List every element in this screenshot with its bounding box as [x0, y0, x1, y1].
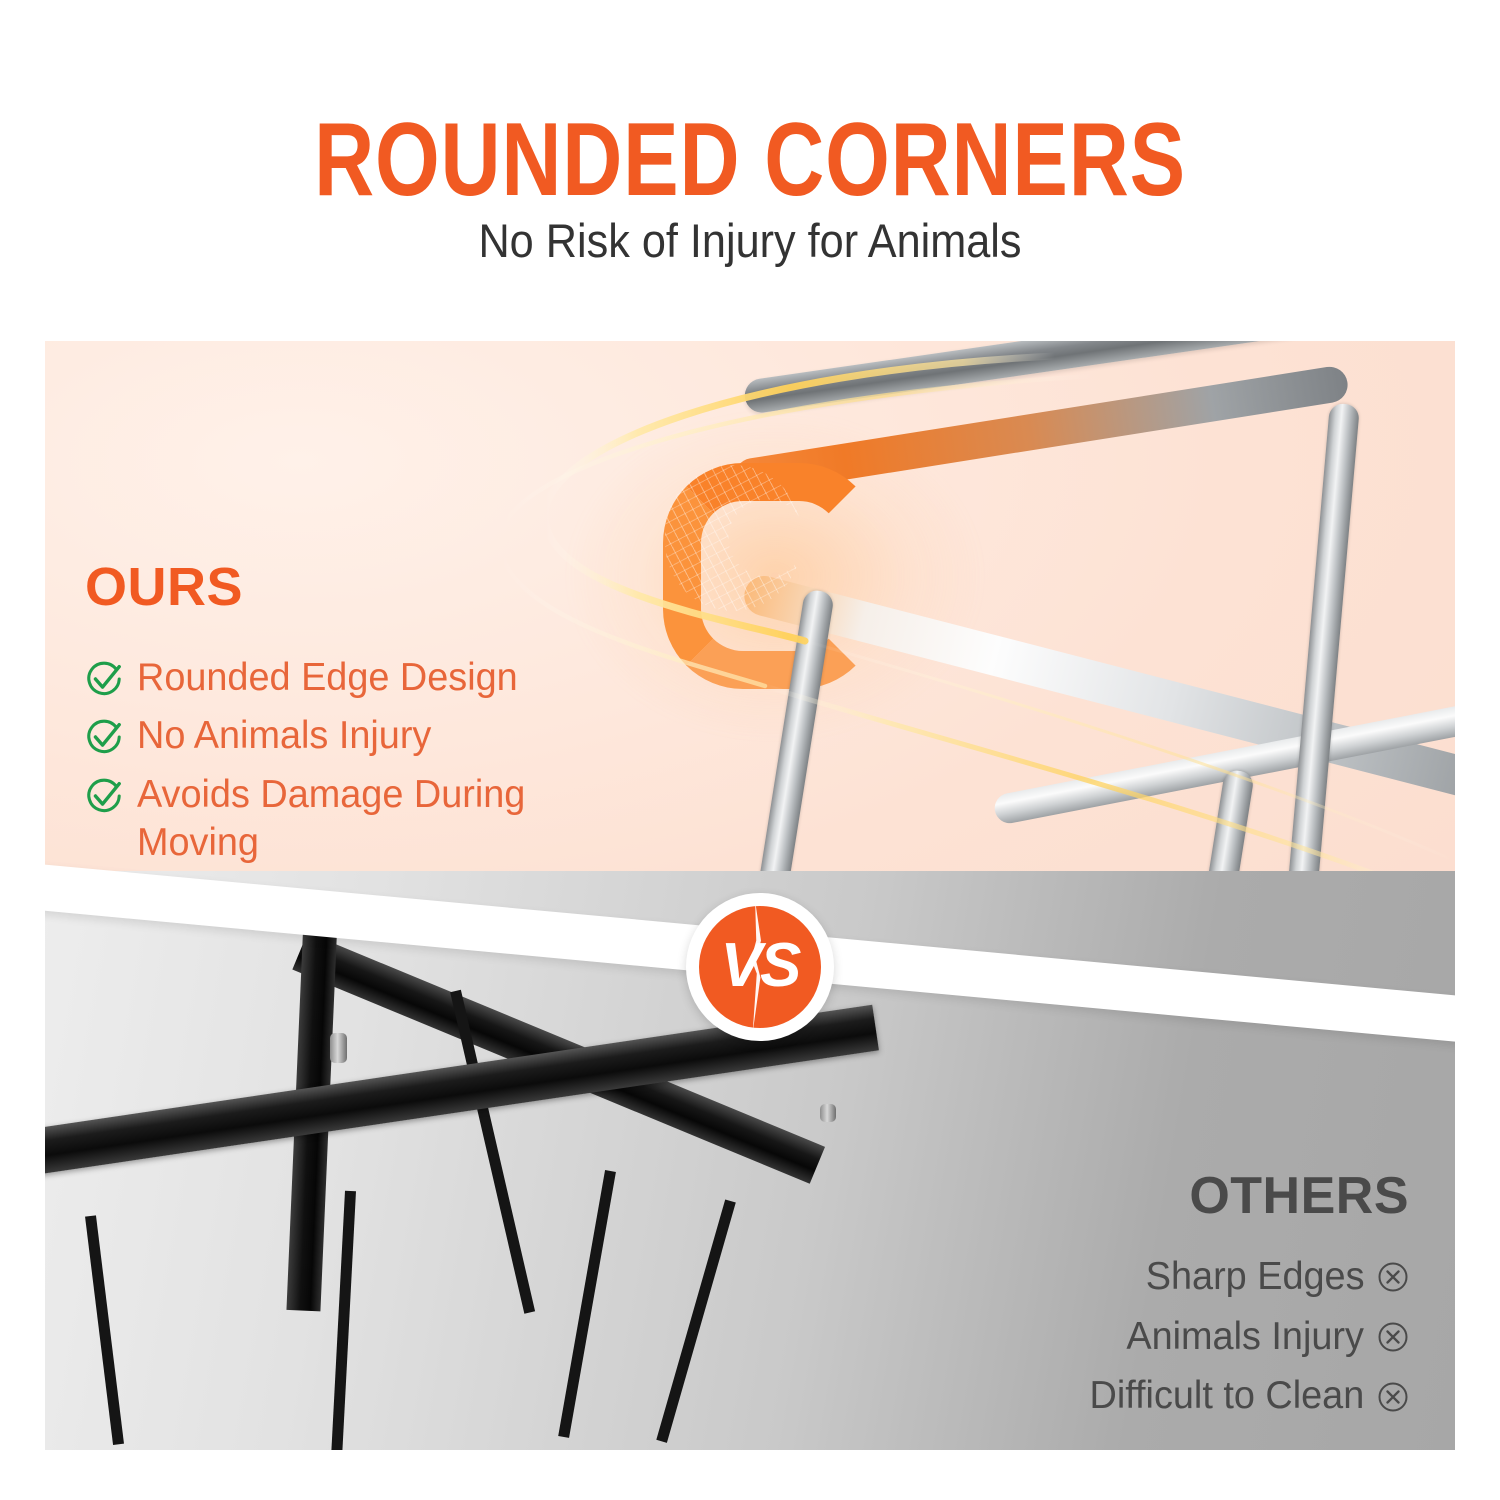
list-item: Difficult to Clean [849, 1371, 1409, 1422]
ours-heading: OURS [85, 556, 645, 618]
check-circle-icon [85, 660, 123, 698]
x-circle-icon [1377, 1321, 1409, 1353]
others-drawback-list: Sharp Edges Animals Injury [849, 1252, 1409, 1422]
steel-post-right [1281, 403, 1360, 941]
ours-panel: OURS Rounded Edge Design [45, 341, 1455, 941]
others-drawback-label: Animals Injury [1126, 1312, 1364, 1363]
black-frame-brace [331, 1191, 356, 1450]
ours-text-block: OURS Rounded Edge Design [85, 556, 645, 877]
ours-feature-list: Rounded Edge Design No Animals Injury [85, 654, 645, 867]
list-item: Animals Injury [849, 1312, 1409, 1363]
black-frame-brace [558, 1170, 616, 1438]
list-item: No Animals Injury [85, 712, 645, 760]
x-circle-icon [1377, 1261, 1409, 1293]
bolt-icon [330, 1033, 347, 1063]
others-drawback-label: Sharp Edges [1145, 1252, 1364, 1303]
ours-feature-label: Avoids Damage During Moving [137, 771, 630, 868]
black-frame-brace [85, 1215, 124, 1445]
others-heading: OTHERS [849, 1166, 1409, 1226]
x-circle-icon [1377, 1381, 1409, 1413]
page-subtitle: No Risk of Injury for Animals [60, 215, 1440, 267]
infographic-root: ROUNDED CORNERS No Risk of Injury for An… [0, 0, 1500, 1500]
others-drawback-label: Difficult to Clean [1089, 1371, 1364, 1422]
check-circle-icon [85, 718, 123, 756]
ours-feature-label: Rounded Edge Design [137, 654, 518, 702]
vs-badge: VS [686, 893, 834, 1041]
rounded-corner-mesh-overlay [665, 465, 801, 611]
check-circle-icon [85, 777, 123, 815]
others-text-block: OTHERS Sharp Edges Animals Injury [849, 1166, 1409, 1431]
list-item: Rounded Edge Design [85, 654, 645, 702]
page-title: ROUNDED CORNERS [150, 108, 1350, 212]
vs-badge-label: VS [686, 893, 834, 1041]
list-item: Sharp Edges [849, 1252, 1409, 1303]
bolt-icon [820, 1104, 836, 1122]
black-frame-brace [656, 1199, 735, 1442]
ours-feature-label: No Animals Injury [137, 712, 431, 760]
list-item: Avoids Damage During Moving [85, 771, 645, 868]
